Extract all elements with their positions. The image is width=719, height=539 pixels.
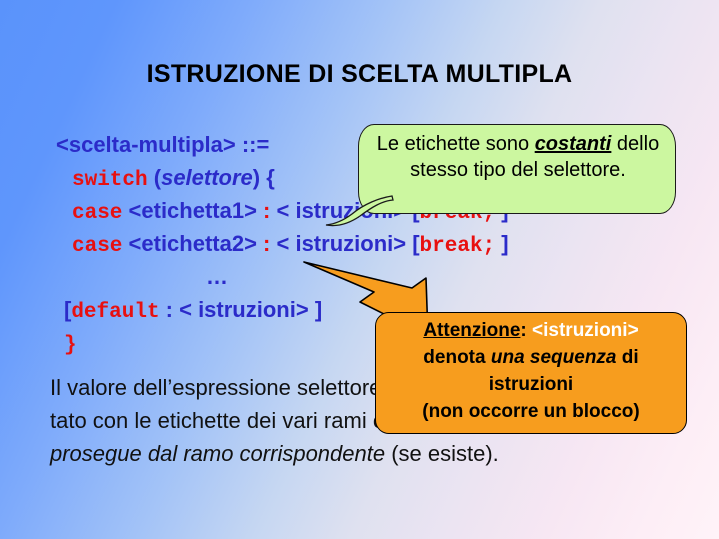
code-token-close-paren-brace: ) { [253, 165, 275, 190]
code-token-lbracket-2: [ [406, 231, 419, 256]
orange-callout-line2-emphasis: una sequenza [491, 347, 617, 368]
green-callout-emphasis: costanti [535, 133, 612, 155]
orange-callout-label: Attenzione [423, 320, 520, 341]
orange-callout-highlight: <istruzioni> [532, 320, 639, 341]
code-token-ellipsis: … [206, 264, 228, 289]
green-callout-text-before: Le etichette sono [377, 133, 535, 155]
code-token-open-paren: ( [148, 165, 161, 190]
green-callout-tail [324, 194, 394, 228]
code-token-case-2: case [72, 235, 122, 258]
orange-callout-line2-before: denota [423, 347, 491, 368]
orange-callout: Attenzione: <istruzioni>denota una seque… [375, 312, 687, 434]
code-token-selettore: selettore [161, 165, 253, 190]
code-line-case2: case <etichetta2> : < istruzioni> [break… [56, 227, 696, 260]
code-token-colon-default: : [160, 297, 180, 322]
green-callout: Le etichette sono costanti dello stesso … [358, 124, 676, 214]
code-token-close-brace: } [64, 334, 77, 357]
code-token-colon-2: : [257, 231, 270, 256]
code-token-rbracket-2: ] [495, 231, 508, 256]
paragraph-line-3: prosegue dal ramo corrispondente (se esi… [50, 437, 690, 470]
code-token-istruzioni-2: < istruzioni> [270, 231, 406, 256]
code-token-break-2: break; [420, 235, 496, 258]
code-token-case-1: case [72, 202, 122, 225]
code-token-etichetta1: <etichetta1> [122, 198, 257, 223]
orange-callout-text: Attenzione: <istruzioni>denota una seque… [382, 317, 680, 425]
paragraph-line-3-plain: (se esiste). [385, 441, 499, 466]
paragraph-line-3-italic: prosegue dal ramo corrispondente [50, 441, 385, 466]
slide-canvas: ISTRUZIONE DI SCELTA MULTIPLA <scelta-mu… [0, 0, 719, 539]
code-token-default: default [71, 301, 159, 324]
code-token-etichetta2: <etichetta2> [122, 231, 257, 256]
code-token-colon-1: : [257, 198, 270, 223]
code-token-switch: switch [72, 169, 148, 192]
orange-callout-colon: : [520, 320, 532, 341]
orange-callout-line4: (non occorre un blocco) [422, 401, 639, 422]
code-token-istruzioni-default: < istruzioni> [179, 297, 309, 322]
page-title: ISTRUZIONE DI SCELTA MULTIPLA [0, 60, 719, 89]
green-callout-text: Le etichette sono costanti dello stesso … [367, 131, 669, 183]
code-token-nonterminal: <scelta-multipla> ::= [56, 132, 269, 157]
